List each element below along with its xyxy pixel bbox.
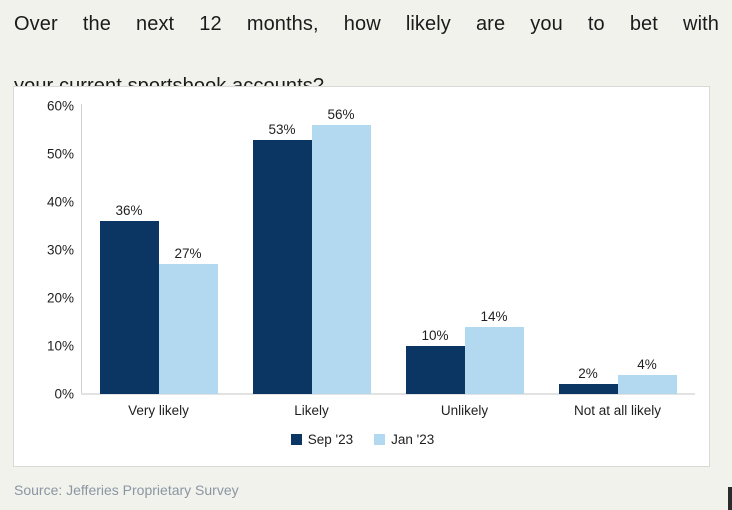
y-axis-labels: 0%10%20%30%40%50%60% (14, 87, 74, 468)
plot-area: 36%27%53%56%10%14%2%4% (82, 104, 694, 394)
y-axis-tick-label: 20% (22, 291, 74, 306)
bar-value-label: 53% (268, 122, 295, 137)
bar-value-label: 36% (115, 203, 142, 218)
page-edge-marker (728, 487, 732, 510)
bar-value-label: 27% (174, 246, 201, 261)
bar-value-label: 56% (327, 107, 354, 122)
x-axis-category-unlikely: Unlikely (441, 403, 488, 418)
bar-unlikely-jan-23[interactable] (465, 327, 524, 394)
y-axis-tick-label: 0% (22, 387, 74, 402)
x-axis-category-very-likely: Very likely (128, 403, 189, 418)
bar-group: 53%56% (253, 104, 371, 394)
bar-likely-sep-23[interactable] (253, 140, 312, 394)
chart-legend: Sep '23Jan '23 (14, 432, 711, 447)
bar-group: 36%27% (100, 104, 218, 394)
page-title-line-1: Over the next 12 months, how likely are … (14, 9, 719, 71)
bar-not-at-all-likely-sep-23[interactable] (559, 384, 618, 394)
bar-value-label: 14% (480, 309, 507, 324)
y-axis-tick-label: 40% (22, 195, 74, 210)
bar-not-at-all-likely-jan-23[interactable] (618, 375, 677, 394)
legend-swatch-icon (291, 434, 302, 445)
y-axis-tick-label: 60% (22, 99, 74, 114)
bar-group: 10%14% (406, 104, 524, 394)
legend-swatch-icon (374, 434, 385, 445)
bar-very-likely-sep-23[interactable] (100, 221, 159, 394)
bar-group: 2%4% (559, 104, 677, 394)
y-axis-tick-label: 30% (22, 243, 74, 258)
y-axis-tick-label: 50% (22, 147, 74, 162)
bar-value-label: 2% (578, 366, 598, 381)
legend-item-jan-23[interactable]: Jan '23 (374, 432, 434, 447)
legend-label: Sep '23 (308, 432, 353, 447)
x-axis-labels: Very likelyLikelyUnlikelyNot at all like… (82, 399, 694, 425)
bar-likely-jan-23[interactable] (312, 125, 371, 394)
chart-panel: 0%10%20%30%40%50%60% 36%27%53%56%10%14%2… (13, 86, 710, 467)
x-axis-category-not-at-all-likely: Not at all likely (574, 403, 661, 418)
bar-value-label: 4% (637, 357, 657, 372)
x-axis-category-likely: Likely (294, 403, 329, 418)
bar-value-label: 10% (421, 328, 448, 343)
bar-very-likely-jan-23[interactable] (159, 264, 218, 394)
y-axis-tick-label: 10% (22, 339, 74, 354)
source-note: Source: Jefferies Proprietary Survey (14, 482, 239, 498)
legend-label: Jan '23 (391, 432, 434, 447)
legend-item-sep-23[interactable]: Sep '23 (291, 432, 353, 447)
bar-unlikely-sep-23[interactable] (406, 346, 465, 394)
